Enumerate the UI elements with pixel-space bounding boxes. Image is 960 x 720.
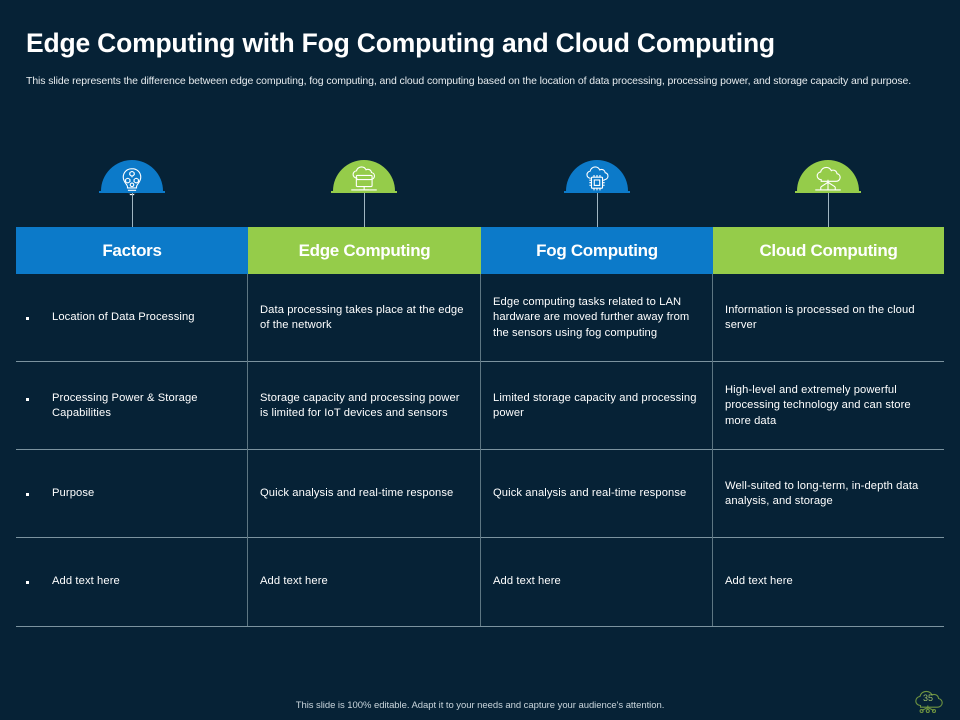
- bullet-icon: [26, 398, 29, 401]
- cell-fog[interactable]: Add text here: [481, 538, 713, 626]
- icon-badge-cloud: [797, 160, 859, 222]
- table-row: Location of Data Processing Data process…: [16, 274, 944, 362]
- icon-badge-edge: [333, 160, 395, 222]
- footer-note: This slide is 100% editable. Adapt it to…: [0, 700, 960, 711]
- cell-fog: Limited storage capacity and processing …: [481, 362, 713, 450]
- cell-cloud: Information is processed on the cloud se…: [713, 274, 944, 362]
- cell-fog: Quick analysis and real-time response: [481, 450, 713, 538]
- table-row: Processing Power & Storage Capabilities …: [16, 362, 944, 450]
- connector-stem: [828, 193, 829, 227]
- cell-edge: Quick analysis and real-time response: [248, 450, 481, 538]
- bullet-icon: [26, 317, 29, 320]
- comparison-table: Factors Edge Computing Fog Computing Clo…: [16, 227, 944, 627]
- factor-label: Location of Data Processing: [52, 310, 195, 326]
- connector-stem: [597, 193, 598, 227]
- column-header-edge-computing: Edge Computing: [248, 227, 481, 274]
- connector-stem: [132, 193, 133, 227]
- cell-fog: Edge computing tasks related to LAN hard…: [481, 274, 713, 362]
- cell-edge: Storage capacity and processing power is…: [248, 362, 481, 450]
- page-number-badge: 35: [908, 684, 948, 716]
- bullet-icon: [26, 493, 29, 496]
- table-row: Purpose Quick analysis and real-time res…: [16, 450, 944, 538]
- connector-stem: [364, 193, 365, 227]
- page-subtitle: This slide represents the difference bet…: [26, 74, 916, 89]
- icon-badge-factors: [101, 160, 163, 222]
- column-header-fog-computing: Fog Computing: [481, 227, 713, 274]
- cell-edge: Data processing takes place at the edge …: [248, 274, 481, 362]
- cell-factor: Purpose: [16, 450, 248, 538]
- factor-label: Purpose: [52, 486, 94, 502]
- bullet-icon: [26, 581, 29, 584]
- cell-factor[interactable]: Add text here: [16, 538, 248, 626]
- cell-cloud: High-level and extremely powerful proces…: [713, 362, 944, 450]
- lightbulb-gears-icon: [101, 160, 163, 191]
- cell-cloud: Well-suited to long-term, in-depth data …: [713, 450, 944, 538]
- cell-edge[interactable]: Add text here: [248, 538, 481, 626]
- cell-factor: Processing Power & Storage Capabilities: [16, 362, 248, 450]
- factor-label: Add text here: [52, 574, 120, 590]
- cloud-monitor-icon: [333, 160, 395, 191]
- cell-cloud[interactable]: Add text here: [713, 538, 944, 626]
- cloud-chip-icon: [566, 160, 628, 191]
- factor-label: Processing Power & Storage Capabilities: [52, 391, 236, 422]
- icon-badge-fog: [566, 160, 628, 222]
- column-header-cloud-computing: Cloud Computing: [713, 227, 944, 274]
- cell-factor: Location of Data Processing: [16, 274, 248, 362]
- table-header-row: Factors Edge Computing Fog Computing Clo…: [16, 227, 944, 274]
- page-title: Edge Computing with Fog Computing and Cl…: [26, 28, 775, 59]
- column-header-factors: Factors: [16, 227, 248, 274]
- cloud-network-icon: [797, 160, 859, 191]
- table-body: Location of Data Processing Data process…: [16, 274, 944, 627]
- icon-badge-row: [0, 160, 960, 232]
- page-number: 35: [908, 693, 948, 703]
- table-row: Add text here Add text here Add text her…: [16, 538, 944, 626]
